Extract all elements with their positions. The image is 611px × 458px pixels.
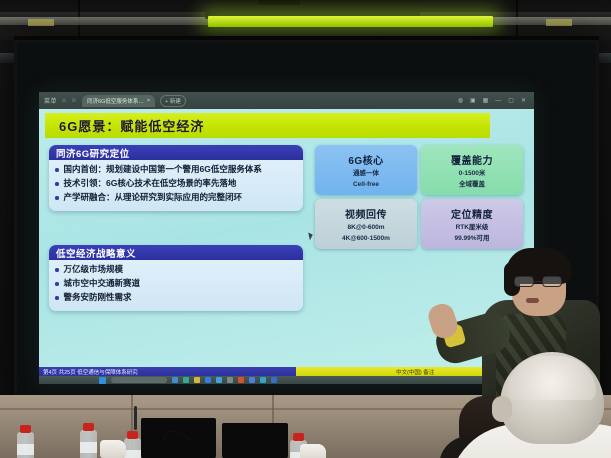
screenshot-root: 菜单 ⌂ ☆ 同济6G低空服务体系… × + 新建 ◍ ▣ ▦ — ▢ ✕ 6G… <box>0 0 611 458</box>
panel-research-position: 同济6G研究定位 国内首创：规划建设中国第一个警用6G低空服务体系 技术引领：6… <box>49 145 303 211</box>
list-item: 国内首创：规划建设中国第一个警用6G低空服务体系 <box>55 164 297 175</box>
bullet-text: 产学研融合：从理论研究到实际应用的完整闭环 <box>64 192 243 203</box>
close-button[interactable]: ✕ <box>521 97 526 104</box>
mail-icon[interactable] <box>260 377 266 383</box>
water-bottle <box>80 430 97 458</box>
card-line-1: RTK厘米级 <box>456 223 489 232</box>
bullet-text: 城市空中交通新赛道 <box>64 278 141 289</box>
window-controls: ◍ ▣ ▦ — ▢ ✕ <box>458 97 529 104</box>
word-icon[interactable] <box>249 377 255 383</box>
panel-header-label: 同济6G研究定位 <box>56 146 130 160</box>
card-title: 覆盖能力 <box>451 152 493 167</box>
powerpoint-icon[interactable] <box>238 377 244 383</box>
bottle-label <box>17 444 34 455</box>
bottle-cap <box>83 423 94 431</box>
folder-icon[interactable] <box>194 377 200 383</box>
list-item: 城市空中交通新赛道 <box>55 278 297 289</box>
home-icon[interactable]: ⌂ <box>62 98 66 104</box>
bullet-dot-icon <box>55 268 59 272</box>
green-light-strip <box>208 16 493 27</box>
card-coverage: 覆盖能力 0-1500米 全域覆盖 <box>421 145 523 195</box>
presenter-mouth <box>526 298 539 303</box>
card-line-2: Cell-free <box>353 180 379 189</box>
browser-icon[interactable] <box>205 377 211 383</box>
menu-icon[interactable]: 菜单 <box>44 96 57 105</box>
slide-title-banner: 6G愿景：赋能低空经济 <box>45 113 490 138</box>
tissue-box <box>100 440 126 458</box>
browser-toolbar: 菜单 ⌂ ☆ 同济6G低空服务体系… × + 新建 ◍ ▣ ▦ — ▢ ✕ <box>39 92 534 109</box>
bottle-label <box>80 442 97 453</box>
card-line-1: 通感一体 <box>353 169 379 178</box>
card-title: 定位精度 <box>451 206 493 221</box>
browser-tab-title: 同济6G低空服务体系… <box>87 97 144 105</box>
panel-body: 万亿级市场规模 城市空中交通新赛道 警务安防刚性需求 <box>49 260 303 311</box>
edge-icon[interactable] <box>183 377 189 383</box>
microphone-stand <box>134 406 137 430</box>
bottle-cap <box>127 431 138 439</box>
teams-icon[interactable] <box>216 377 222 383</box>
card-line-2: 99.99%可用 <box>454 234 489 243</box>
status-right-text: 中文(中国) 备注 <box>396 368 434 376</box>
bullet-text: 警务安防刚性需求 <box>64 292 132 303</box>
list-item: 万亿级市场规模 <box>55 264 297 275</box>
maximize-button[interactable]: ▢ <box>508 97 514 104</box>
water-bottle <box>124 438 141 458</box>
card-6g-core: 6G核心 通感一体 Cell-free <box>315 145 417 195</box>
monitor-screen <box>222 423 288 458</box>
bottle-label <box>124 450 141 458</box>
apps-icon[interactable]: ▣ <box>470 97 476 104</box>
spec-card-grid: 6G核心 通感一体 Cell-free 覆盖能力 0-1500米 全域覆盖 视频… <box>315 145 523 249</box>
explorer-icon[interactable] <box>172 377 178 383</box>
minimize-button[interactable]: — <box>495 98 501 104</box>
panel-header: 同济6G研究定位 <box>49 145 303 160</box>
wall-plate <box>546 19 572 26</box>
card-line-1: 8K@0-600m <box>347 223 384 232</box>
bottle-cap <box>20 425 31 433</box>
star-icon[interactable]: ☆ <box>71 97 77 104</box>
status-left-text: 第4页 共25页 低空通信与保障体系研究 <box>43 368 138 376</box>
card-line-2: 全域覆盖 <box>459 180 485 189</box>
panel-header-label: 低空经济战略意义 <box>56 246 136 260</box>
card-line-1: 0-1500米 <box>459 169 486 178</box>
list-item: 警务安防刚性需求 <box>55 292 297 303</box>
water-bottle <box>17 432 34 458</box>
bullet-dot-icon <box>55 296 59 300</box>
bullet-dot-icon <box>55 168 59 172</box>
bullet-text: 万亿级市场规模 <box>64 264 124 275</box>
audience-ear <box>492 396 512 422</box>
close-icon[interactable]: × <box>147 98 150 104</box>
app-icon[interactable] <box>227 377 233 383</box>
bullet-text: 国内首创：规划建设中国第一个警用6G低空服务体系 <box>64 164 262 175</box>
panel-strategic-significance: 低空经济战略意义 万亿级市场规模 城市空中交通新赛道 警务安防刚性需求 <box>49 245 303 311</box>
glasses-icon <box>514 276 562 287</box>
start-icon[interactable] <box>99 377 106 384</box>
card-positioning-accuracy: 定位精度 RTK厘米级 99.99%可用 <box>421 199 523 249</box>
new-tab-button[interactable]: + 新建 <box>160 95 186 107</box>
bullet-dot-icon <box>55 196 59 200</box>
card-title: 6G核心 <box>348 152 383 167</box>
panel-header: 低空经济战略意义 <box>49 245 303 260</box>
list-item: 技术引领：6G核心技术在低空场景的率先落地 <box>55 178 297 189</box>
account-icon[interactable]: ◍ <box>458 97 463 104</box>
list-item: 产学研融合：从理论研究到实际应用的完整闭环 <box>55 192 297 203</box>
panel-body: 国内首创：规划建设中国第一个警用6G低空服务体系 技术引领：6G核心技术在低空场… <box>49 160 303 211</box>
search-input[interactable] <box>111 377 167 383</box>
card-title: 视频回传 <box>345 206 387 221</box>
status-left: 第4页 共25页 低空通信与保障体系研究 <box>39 367 296 376</box>
card-line-2: 4K@600-1500m <box>342 234 390 243</box>
card-video-backhaul: 视频回传 8K@0-600m 4K@600-1500m <box>315 199 417 249</box>
paper-cup <box>300 444 326 458</box>
bullet-dot-icon <box>55 182 59 186</box>
bullet-text: 技术引领：6G核心技术在低空场景的率先落地 <box>64 178 237 189</box>
browser-tab[interactable]: 同济6G低空服务体系… × <box>82 95 155 107</box>
extensions-icon[interactable]: ▦ <box>483 97 489 104</box>
settings-icon[interactable] <box>271 377 277 383</box>
mouse-cursor-icon <box>308 232 314 241</box>
wall-plate <box>28 19 54 26</box>
bottle-cap <box>293 433 304 441</box>
slide-title: 6G愿景：赋能低空经济 <box>59 116 204 135</box>
audience-member-front <box>482 352 611 458</box>
bullet-dot-icon <box>55 282 59 286</box>
